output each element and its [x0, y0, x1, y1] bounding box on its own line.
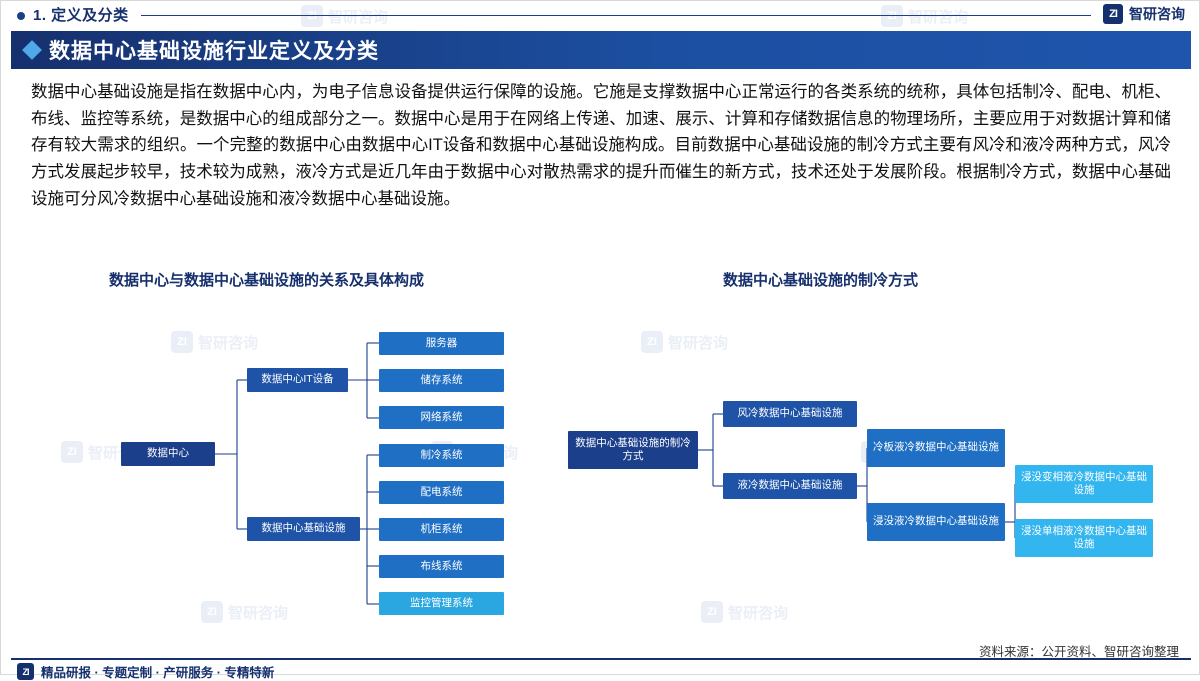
- node-left-branch-it: 数据中心IT设备: [247, 368, 348, 392]
- watermark-mark: ZI: [61, 441, 83, 463]
- bullet-icon: [17, 12, 25, 20]
- watermark: ZI 智研咨询: [171, 331, 258, 353]
- brand-name: 智研咨询: [1129, 4, 1185, 24]
- footer-mark-icon: ZI: [17, 663, 34, 680]
- header-divider: [141, 15, 1091, 16]
- brand-logo: ZI 智研咨询: [1103, 4, 1185, 24]
- footer-text: 精品研报 · 专题定制 · 产研服务 · 专精特新: [41, 662, 274, 681]
- left-chart-caption: 数据中心与数据中心基础设施的关系及具体构成: [109, 269, 424, 290]
- node-left-infra-child-0: 制冷系统: [379, 444, 504, 467]
- footer-divider: [11, 658, 1191, 660]
- section-number: 1. 定义及分类: [33, 4, 129, 25]
- page-root: ZI 智研咨询 CHYXX.COM ZI 智研咨询 ZI 智研咨询 ZI 智研咨…: [0, 0, 1200, 675]
- node-right-liquid-cooled: 液冷数据中心基础设施: [723, 473, 857, 499]
- watermark-text: 智研咨询: [668, 332, 728, 353]
- node-right-immersion: 浸没液冷数据中心基础设施: [867, 503, 1005, 541]
- node-right-immersion-single-phase: 浸没单相液冷数据中心基础设施: [1015, 519, 1153, 557]
- right-chart-caption: 数据中心基础设施的制冷方式: [723, 269, 918, 290]
- node-right-coldplate: 冷板液冷数据中心基础设施: [867, 429, 1005, 467]
- node-left-root: 数据中心: [121, 442, 215, 466]
- node-left-it-child-0: 服务器: [379, 332, 504, 355]
- node-right-immersion-phase-change: 浸没变相液冷数据中心基础设施: [1015, 465, 1153, 503]
- brand-mark-icon: ZI: [1103, 4, 1123, 24]
- node-left-it-child-1: 储存系统: [379, 369, 504, 392]
- top-bar: 1. 定义及分类 ZI 智研咨询: [1, 1, 1200, 29]
- watermark-mark: ZI: [641, 331, 663, 353]
- node-left-branch-infra: 数据中心基础设施: [247, 517, 360, 541]
- footer: ZI 精品研报 · 专题定制 · 产研服务 · 专精特新: [17, 662, 274, 681]
- watermark-text: 智研咨询: [728, 602, 788, 623]
- node-left-infra-child-4: 监控管理系统: [379, 592, 504, 615]
- body-paragraph: 数据中心基础设施是指在数据中心内，为电子信息设备提供运行保障的设施。它施是支撑数…: [31, 79, 1171, 213]
- node-left-it-child-2: 网络系统: [379, 406, 504, 429]
- watermark: ZI 智研咨询: [701, 601, 788, 623]
- node-left-infra-child-2: 机柜系统: [379, 518, 504, 541]
- watermark-mark: ZI: [701, 601, 723, 623]
- diamond-icon: [22, 40, 42, 60]
- node-right-air-cooled: 风冷数据中心基础设施: [723, 401, 857, 427]
- watermark-mark: ZI: [201, 601, 223, 623]
- watermark-text: 智研咨询: [198, 332, 258, 353]
- watermark-text: 智研咨询: [228, 602, 288, 623]
- title-band: 数据中心基础设施行业定义及分类: [11, 31, 1191, 69]
- watermark: ZI 智研咨询: [641, 331, 728, 353]
- page-title: 数据中心基础设施行业定义及分类: [49, 35, 379, 65]
- watermark-mark: ZI: [171, 331, 193, 353]
- node-left-infra-child-1: 配电系统: [379, 481, 504, 504]
- watermark: ZI 智研咨询: [201, 601, 288, 623]
- node-left-infra-child-3: 布线系统: [379, 555, 504, 578]
- node-right-root: 数据中心基础设施的制冷方式: [568, 431, 698, 469]
